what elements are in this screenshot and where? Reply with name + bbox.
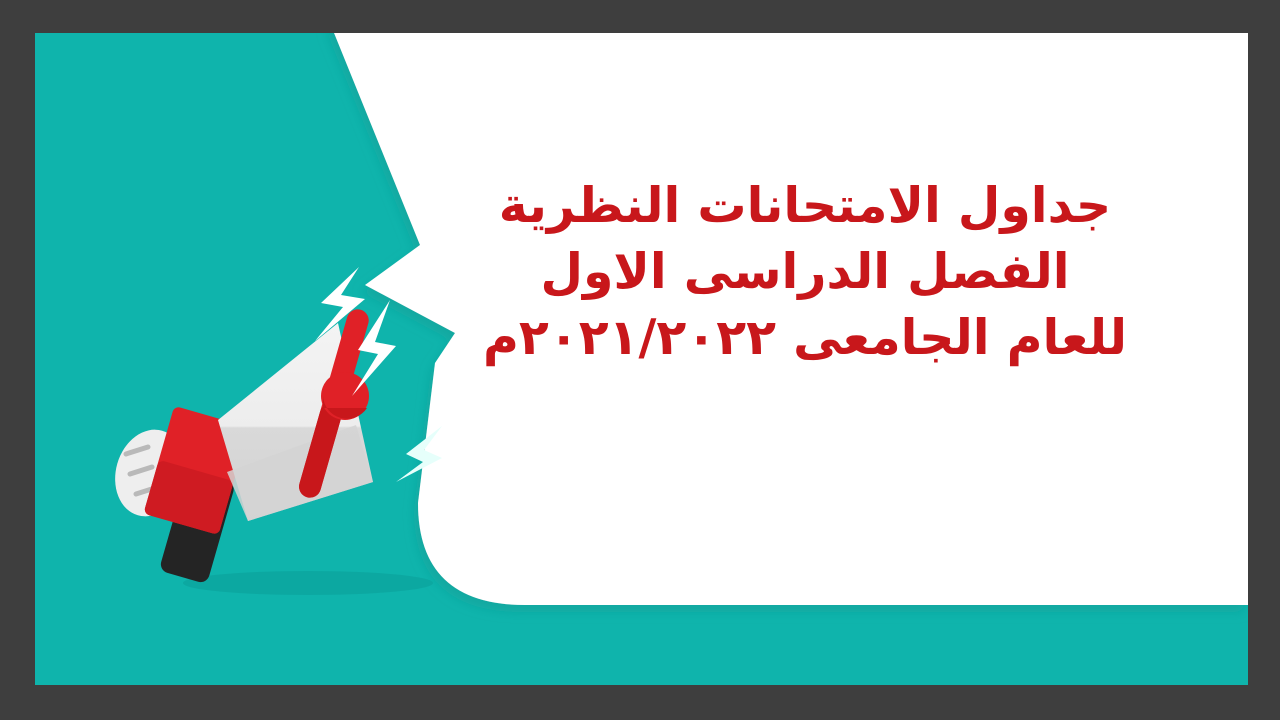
title-line-3: للعام الجامعى ٢٠٢١/٢٠٢٢م (435, 305, 1175, 371)
page-title: جداول الامتحانات النظرية الفصل الدراسى ا… (435, 173, 1175, 371)
lightning-bolt-bubble-edge (307, 261, 377, 351)
screenshot-root: جداول الامتحانات النظرية الفصل الدراسى ا… (0, 0, 1280, 720)
ellipse-shadow (183, 571, 433, 595)
title-line-1: جداول الامتحانات النظرية (435, 173, 1175, 239)
megaphone-icon (90, 278, 490, 638)
announcement-poster: جداول الامتحانات النظرية الفصل الدراسى ا… (35, 33, 1248, 685)
title-line-2: الفصل الدراسى الاول (435, 239, 1175, 305)
lightning-bolt-lower (396, 426, 442, 482)
